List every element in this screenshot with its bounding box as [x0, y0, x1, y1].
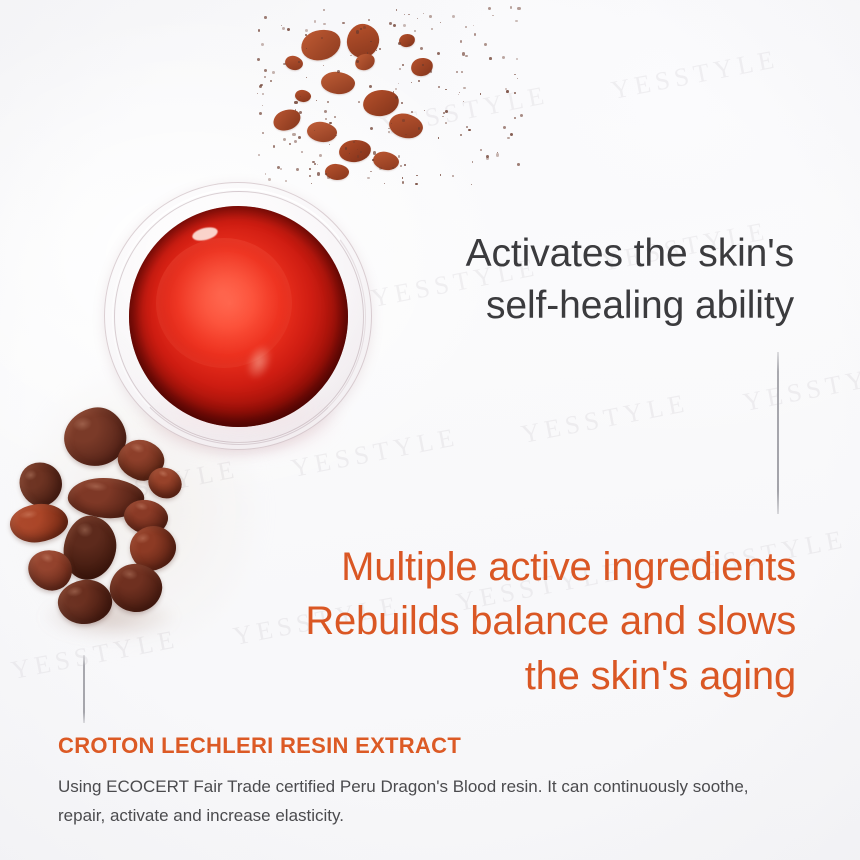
- powder-speck: [517, 163, 520, 166]
- powder-speck: [327, 101, 329, 103]
- powder-speck: [356, 60, 359, 63]
- powder-speck: [301, 151, 303, 153]
- headline-secondary-line-3: the skin's aging: [236, 649, 796, 703]
- powder-speck: [472, 161, 474, 163]
- powder-speck: [468, 129, 471, 132]
- powder-speck: [363, 26, 366, 29]
- powder-speck: [404, 164, 406, 166]
- powder-speck: [402, 119, 405, 122]
- powder-speck: [411, 111, 413, 113]
- powder-speck: [398, 155, 401, 158]
- powder-speck: [316, 100, 317, 101]
- powder-speck: [258, 29, 261, 32]
- resin-chunk: [8, 500, 71, 546]
- powder-speck: [502, 56, 505, 59]
- headline-primary-line-2: self-healing ability: [374, 280, 794, 332]
- powder-speck: [416, 175, 418, 177]
- powder-speck: [280, 168, 282, 170]
- powder-speck: [460, 40, 462, 42]
- powder-speck: [265, 173, 267, 175]
- powder-speck: [323, 9, 325, 11]
- powder-speck: [317, 164, 319, 166]
- powder-speck: [306, 77, 307, 78]
- powder-speck: [437, 52, 440, 55]
- powder-speck: [329, 144, 330, 145]
- powder-speck: [452, 175, 454, 177]
- powder-speck: [424, 110, 426, 112]
- divider-right: [777, 352, 779, 514]
- powder-speck: [480, 93, 482, 95]
- powder-speck: [408, 14, 410, 16]
- powder-speck: [391, 123, 392, 124]
- powder-speck: [486, 157, 489, 160]
- powder-speck: [283, 138, 286, 141]
- powder-speck: [379, 167, 382, 170]
- powder-speck: [514, 74, 516, 76]
- powder-speck: [283, 63, 286, 66]
- powder-speck: [294, 140, 297, 143]
- powder-speck: [368, 19, 370, 21]
- powder-speck: [259, 112, 262, 115]
- powder-speck: [389, 22, 392, 25]
- powder-speck: [402, 64, 404, 66]
- powder-fragment: [387, 110, 426, 142]
- powder-speck: [474, 33, 477, 36]
- powder-speck: [329, 122, 331, 124]
- powder-speck: [356, 30, 359, 33]
- powder-speck: [400, 165, 402, 167]
- powder-speck: [459, 92, 461, 94]
- powder-speck: [323, 23, 326, 26]
- powder-fragment: [283, 54, 304, 72]
- powder-speck: [516, 58, 519, 61]
- powder-speck: [309, 168, 311, 170]
- powder-speck: [393, 24, 396, 27]
- crushed-resin-powder: [255, 0, 535, 189]
- powder-speck: [257, 58, 260, 61]
- powder-speck: [370, 171, 372, 173]
- powder-speck: [445, 89, 446, 90]
- powder-speck: [398, 83, 399, 84]
- powder-speck: [321, 37, 323, 39]
- powder-speck: [298, 136, 301, 139]
- powder-fragment: [270, 106, 303, 134]
- powder-speck: [296, 168, 299, 171]
- powder-speck: [262, 105, 263, 106]
- headline-secondary-line-1: Multiple active ingredients: [236, 540, 796, 594]
- powder-speck: [388, 131, 390, 133]
- powder-speck: [473, 25, 475, 27]
- powder-speck: [461, 71, 463, 73]
- powder-speck: [420, 47, 423, 50]
- powder-speck: [399, 68, 401, 70]
- powder-speck: [458, 94, 460, 96]
- powder-speck: [360, 28, 361, 29]
- powder-speck: [260, 84, 262, 86]
- powder-speck: [319, 154, 322, 157]
- divider-left: [83, 655, 85, 723]
- powder-speck: [430, 70, 432, 72]
- powder-speck: [401, 102, 403, 104]
- powder-speck: [515, 20, 518, 23]
- powder-speck: [503, 126, 506, 129]
- powder-speck: [452, 15, 455, 18]
- powder-speck: [510, 6, 513, 9]
- powder-speck: [465, 55, 468, 58]
- powder-speck: [289, 143, 291, 145]
- powder-speck: [264, 69, 267, 72]
- powder-speck: [402, 177, 404, 179]
- powder-fragment: [338, 138, 372, 163]
- powder-speck: [384, 183, 385, 184]
- powder-speck: [492, 15, 494, 17]
- powder-speck: [418, 80, 420, 82]
- powder-speck: [370, 127, 373, 130]
- powder-speck: [403, 24, 406, 27]
- powder-speck: [510, 133, 513, 136]
- powder-speck: [360, 151, 362, 153]
- powder-speck: [358, 101, 360, 103]
- headline-primary: Activates the skin's self-healing abilit…: [374, 228, 794, 332]
- powder-speck: [471, 184, 472, 185]
- powder-fragment: [320, 70, 356, 95]
- powder-speck: [369, 85, 372, 88]
- powder-speck: [292, 133, 295, 136]
- powder-speck: [388, 128, 389, 129]
- powder-speck: [440, 174, 442, 176]
- powder-speck: [438, 137, 440, 139]
- powder-speck: [345, 147, 348, 150]
- powder-speck: [442, 116, 443, 117]
- powder-speck: [379, 48, 382, 51]
- powder-speck: [261, 43, 264, 46]
- ingredient-caption: CROTON LECHLERI RESIN EXTRACT Using ECOC…: [58, 733, 818, 830]
- powder-speck: [445, 122, 447, 124]
- powder-speck: [257, 93, 258, 94]
- powder-speck: [414, 30, 416, 32]
- powder-speck: [517, 7, 520, 10]
- headline-primary-line-1: Activates the skin's: [374, 228, 794, 280]
- powder-speck: [507, 137, 510, 140]
- powder-speck: [395, 88, 397, 90]
- powder-speck: [404, 14, 406, 16]
- headline-secondary: Multiple active ingredients Rebuilds bal…: [236, 540, 796, 703]
- powder-speck: [264, 16, 267, 19]
- dragons-blood-resin-chunks: [6, 404, 216, 662]
- powder-speck: [514, 92, 516, 94]
- powder-speck: [506, 90, 509, 93]
- powder-speck: [272, 71, 275, 74]
- powder-speck: [325, 118, 327, 120]
- powder-speck: [466, 126, 468, 128]
- product-feature-panel: YESSTYLEYESSTYLEYESSTYLEYESSTYLEYESSTYLE…: [0, 0, 860, 860]
- powder-speck: [514, 117, 516, 119]
- powder-speck: [396, 9, 398, 11]
- powder-speck: [411, 82, 412, 83]
- powder-speck: [440, 22, 441, 23]
- powder-speck: [392, 167, 394, 169]
- powder-speck: [429, 15, 432, 18]
- powder-speck: [281, 25, 282, 26]
- powder-speck: [294, 101, 298, 105]
- powder-speck: [489, 57, 492, 60]
- powder-speck: [258, 154, 260, 156]
- powder-speck: [299, 111, 302, 114]
- powder-speck: [463, 101, 464, 102]
- powder-speck: [443, 112, 445, 114]
- powder-speck: [314, 130, 315, 131]
- powder-speck: [350, 55, 351, 56]
- powder-speck: [314, 20, 316, 22]
- powder-speck: [488, 7, 491, 10]
- powder-speck: [417, 18, 418, 19]
- powder-speck: [445, 110, 448, 113]
- powder-speck: [262, 132, 264, 134]
- powder-speck: [484, 43, 487, 46]
- powder-fragment: [398, 33, 416, 49]
- powder-speck: [480, 149, 482, 151]
- powder-speck: [323, 65, 325, 67]
- powder-speck: [496, 153, 499, 156]
- powder-speck: [376, 50, 377, 51]
- powder-speck: [334, 116, 336, 118]
- powder-speck: [408, 44, 410, 46]
- powder-speck: [465, 26, 467, 28]
- powder-speck: [415, 183, 417, 185]
- powder-speck: [423, 13, 424, 14]
- headline-secondary-line-2: Rebuilds balance and slows: [236, 594, 796, 648]
- ingredient-name: CROTON LECHLERI RESIN EXTRACT: [58, 733, 818, 759]
- powder-speck: [305, 29, 309, 33]
- powder-speck: [460, 134, 462, 136]
- powder-speck: [372, 159, 374, 161]
- powder-speck: [314, 163, 316, 165]
- powder-speck: [431, 28, 434, 31]
- powder-speck: [282, 27, 285, 30]
- powder-speck: [438, 86, 440, 88]
- powder-speck: [264, 76, 266, 78]
- powder-speck: [342, 22, 344, 24]
- powder-speck: [287, 28, 290, 31]
- powder-speck: [402, 181, 404, 183]
- powder-speck: [418, 127, 420, 129]
- powder-fragment: [306, 120, 338, 144]
- powder-fragment: [409, 56, 434, 78]
- powder-speck: [520, 114, 523, 117]
- powder-fragment: [361, 88, 400, 119]
- powder-speck: [462, 52, 465, 55]
- powder-speck: [517, 78, 518, 79]
- powder-speck: [463, 87, 466, 90]
- ingredient-description: Using ECOCERT Fair Trade certified Peru …: [58, 772, 764, 830]
- powder-speck: [273, 145, 275, 147]
- powder-speck: [456, 71, 459, 74]
- powder-speck: [262, 93, 264, 95]
- powder-speck: [324, 110, 327, 113]
- powder-speck: [270, 80, 272, 82]
